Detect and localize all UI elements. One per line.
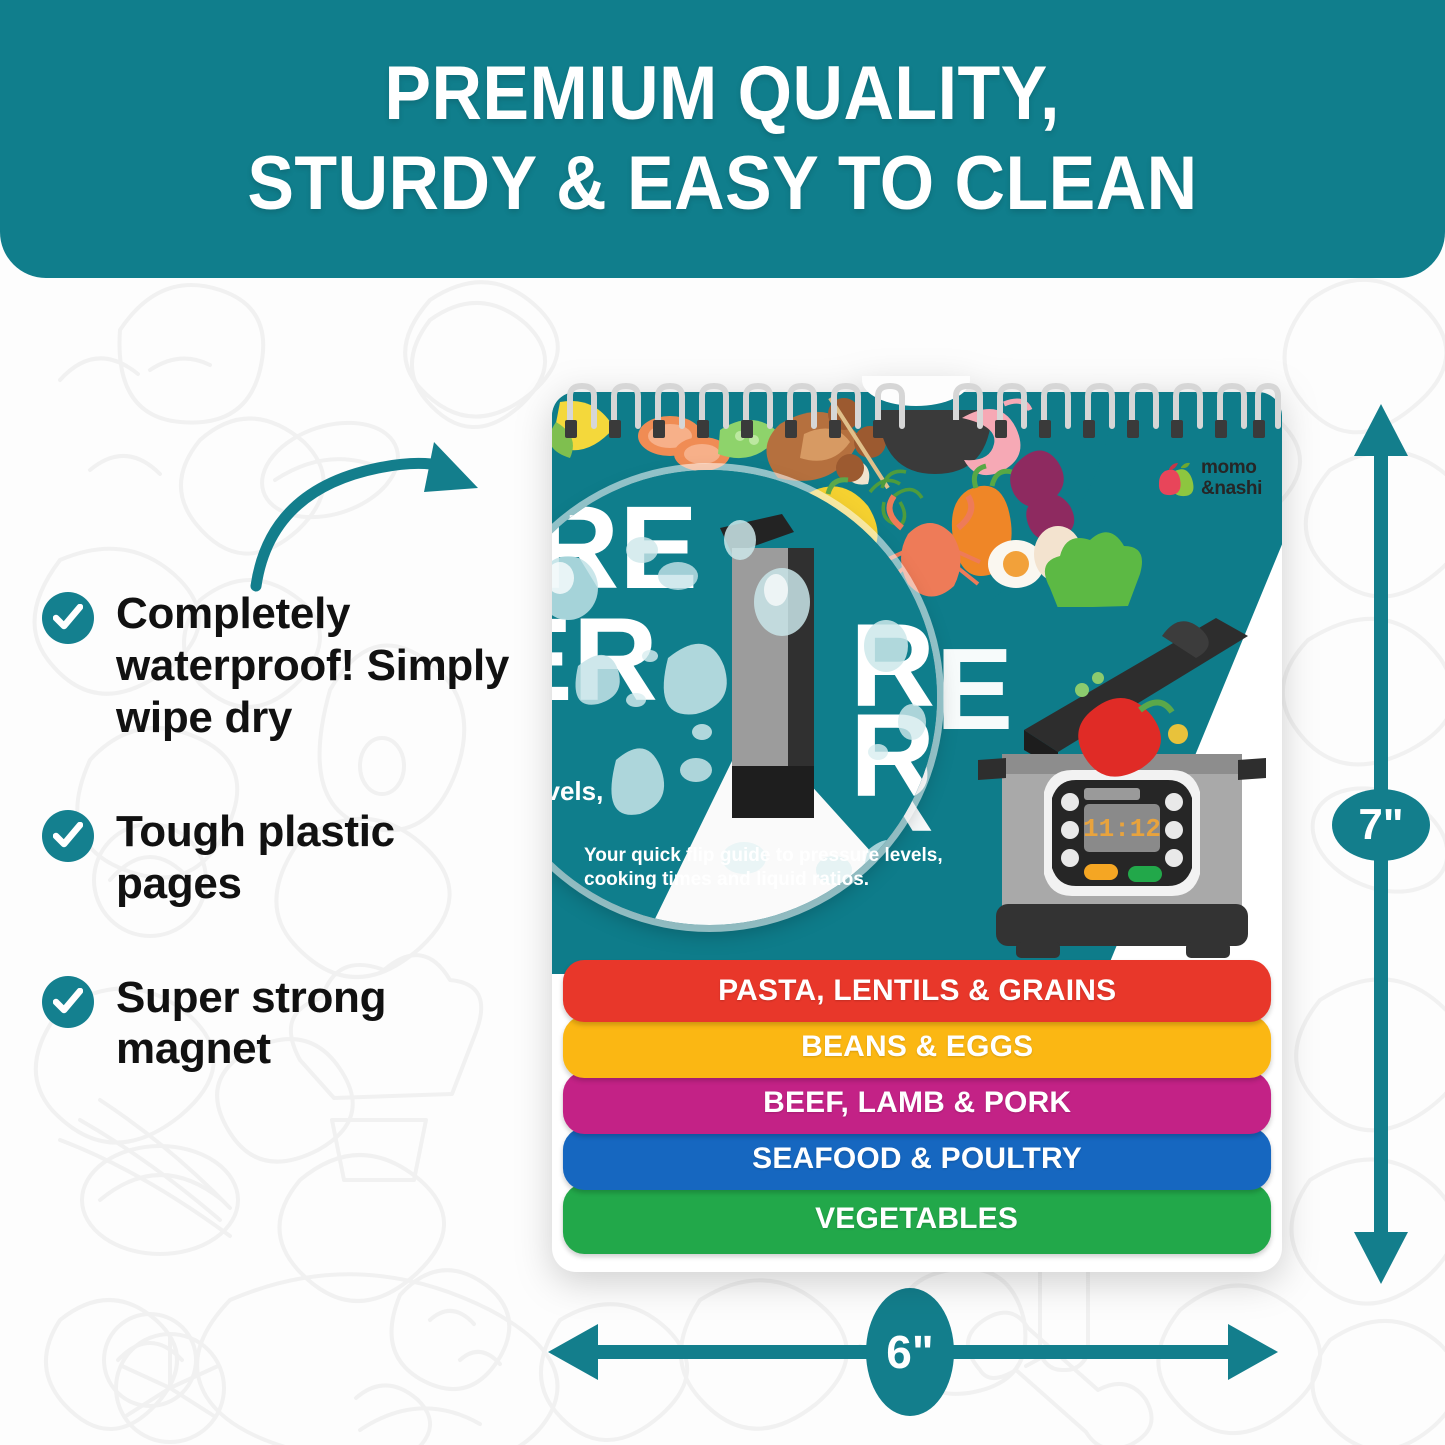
brand-name-line-1: momo (1201, 458, 1262, 479)
cover-subtitle: Your quick flip guide to pressure levels… (584, 844, 984, 892)
feature-list: Completely waterproof! Simply wipe dry T… (42, 588, 512, 1137)
tab-label: VEGETABLES (816, 1202, 1019, 1236)
tab-vegetables[interactable]: VEGETABLES (563, 1184, 1271, 1254)
tab-label: SEAFOOD & POULTRY (752, 1142, 1082, 1176)
tab-label: BEEF, LAMB & PORK (763, 1086, 1071, 1120)
spiral-binding-icon (552, 376, 1282, 438)
feature-label: Completely waterproof! Simply wipe dry (116, 588, 512, 744)
brand-logo-text: momo &nashi (1201, 458, 1262, 499)
check-circle-icon (42, 592, 94, 644)
height-label: 7" (1332, 789, 1430, 861)
width-label: 6" (866, 1288, 954, 1416)
tab-label: BEANS & EGGS (801, 1030, 1033, 1064)
dimension-height: 7" (1346, 404, 1416, 1284)
svg-text:re levels,: re levels, (552, 776, 603, 806)
feature-label: Tough plastic pages (116, 806, 512, 910)
dimension-width: 6" (548, 1316, 1278, 1388)
tab-label: PASTA, LENTILS & GRAINS (718, 974, 1116, 1008)
feature-item: Tough plastic pages (42, 806, 512, 910)
notepad-card: RE ER RE R (552, 392, 1282, 1272)
header-title-line-2: STURDY & EASY TO CLEAN (247, 145, 1197, 223)
page-root: PREMIUM QUALITY, STURDY & EASY TO CLEAN … (0, 0, 1445, 1445)
pressure-cooker-icon: 11:12 (972, 592, 1272, 982)
svg-text:R: R (850, 690, 935, 822)
check-circle-icon (42, 810, 94, 862)
feature-label: Super strong magnet (116, 972, 512, 1076)
tab-beans-eggs[interactable]: BEANS & EGGS (563, 1016, 1271, 1078)
brand-name-line-2: &nashi (1201, 479, 1262, 500)
peach-pear-icon (1153, 461, 1195, 497)
check-circle-icon (42, 976, 94, 1028)
category-tabs: PASTA, LENTILS & GRAINS BEANS & EGGS BEE… (552, 966, 1282, 1254)
cooker-display-value: 11:12 (1083, 814, 1161, 844)
product-notepad: RE ER RE R (552, 392, 1282, 1272)
tab-beef-lamb-pork[interactable]: BEEF, LAMB & PORK (563, 1072, 1271, 1134)
curved-arrow-icon (228, 436, 490, 596)
tab-seafood-poultry[interactable]: SEAFOOD & POULTRY (563, 1128, 1271, 1190)
header-banner: PREMIUM QUALITY, STURDY & EASY TO CLEAN (0, 0, 1445, 278)
feature-item: Completely waterproof! Simply wipe dry (42, 588, 512, 744)
tab-pasta-lentils-grains[interactable]: PASTA, LENTILS & GRAINS (563, 960, 1271, 1022)
header-title-line-1: PREMIUM QUALITY, (385, 55, 1060, 133)
brand-logo: momo &nashi (1153, 458, 1262, 499)
feature-item: Super strong magnet (42, 972, 512, 1076)
